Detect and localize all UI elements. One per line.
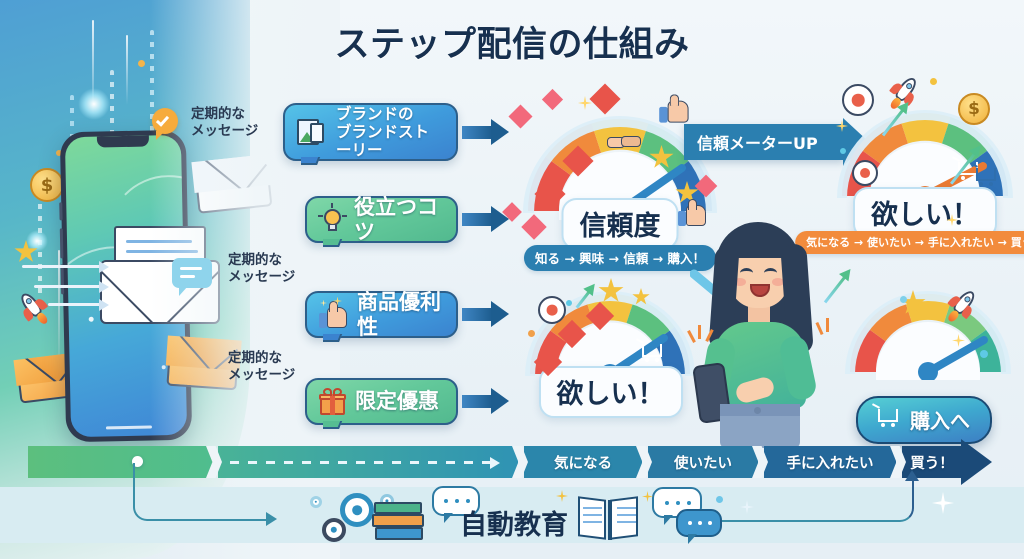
flow-line (34, 285, 106, 288)
target-icon (842, 84, 874, 116)
gauge-label: 信頼度 (562, 198, 679, 250)
infographic-canvas: $ (0, 0, 1024, 559)
message-bubble-product-benefit[interactable]: 商品優利性 (305, 291, 458, 338)
timeline-segment-interest[interactable]: 気になる (524, 446, 642, 478)
decor-dot (900, 296, 907, 303)
coin-icon: $ (30, 168, 64, 202)
flow-arrow (462, 308, 492, 321)
automation-label: 自動教育 (460, 503, 568, 542)
gear-icon (340, 493, 374, 527)
decor-dot (980, 350, 988, 358)
gauge-dial (838, 280, 1018, 380)
flow-arrow (462, 126, 492, 139)
brochure-icon (297, 119, 327, 145)
gift-icon (319, 389, 346, 415)
gauge-purchase (838, 280, 1018, 390)
cart-icon (976, 168, 1000, 188)
page-title: ステップ配信の仕組み (0, 16, 1024, 67)
banner-label: 信頼メーターUP (697, 130, 818, 154)
purchase-button-label: 購入へ (910, 405, 970, 434)
flow-line (48, 303, 106, 306)
message-bubble-brand-story[interactable]: ブランドの ブランドストーリー (283, 103, 458, 161)
cart-icon (642, 344, 666, 364)
flow-line (22, 265, 106, 268)
feedback-connector-left (133, 463, 271, 521)
decor-dot (840, 148, 846, 154)
chat-bubble-icon (676, 509, 722, 537)
gear-icon (322, 518, 346, 542)
bubble-label: 商品優利性 (357, 290, 444, 340)
bubble-label: ブランドの ブランドストーリー (336, 105, 444, 160)
periodic-message-label: 定期的な メッセージ (228, 350, 295, 385)
decor-glow (78, 88, 110, 120)
check-circle-icon (152, 108, 178, 134)
excitement-mark (826, 318, 829, 332)
decor-dot (930, 78, 937, 85)
gauge-sub-label: 知る → 興味 → 信頼 → 購入！ (524, 245, 716, 271)
message-bubble-tips[interactable]: 役立つコツ (305, 196, 458, 243)
gauge-sub-label: 気になる → 使いたい → 手に入れたい → 買う！ (795, 231, 1024, 254)
message-bubble-limited-offer[interactable]: 限定優惠 (305, 378, 458, 425)
bubble-label: 役立つコツ (354, 195, 444, 245)
target-icon (852, 160, 878, 186)
handshake-icon (607, 133, 641, 151)
decor-dot (566, 300, 572, 306)
smiling-woman-with-phone (700, 222, 820, 448)
coin-icon: $ (958, 93, 990, 125)
periodic-message-label: 定期的な メッセージ (228, 252, 295, 287)
message-bubble-icon (172, 258, 212, 288)
flow-arrow (462, 395, 492, 408)
open-book-icon (578, 498, 642, 542)
flow-arrow (462, 213, 492, 226)
shopping-cart-icon (878, 409, 902, 430)
lightbulb-icon (319, 206, 345, 234)
bubble-label: 限定優惠 (355, 389, 439, 414)
purchase-button[interactable]: 購入へ (856, 396, 992, 444)
timeline-segment-want-to-get[interactable]: 手に入れたい (764, 446, 896, 478)
timeline-segment-want-to-use[interactable]: 使いたい (648, 446, 758, 478)
thumbs-up-icon (319, 300, 348, 330)
periodic-message-label: 定期的な メッセージ (191, 106, 258, 141)
decor-dot (716, 496, 723, 503)
target-icon (538, 296, 566, 324)
connector-arrow-icon (266, 512, 277, 526)
feedback-connector-right (716, 478, 914, 522)
excitement-mark (698, 325, 701, 339)
decor-dot (528, 330, 535, 337)
trust-meter-up-banner: 信頼メーターUP (684, 124, 844, 160)
books-icon (372, 502, 424, 540)
thumbs-up-icon (659, 95, 693, 122)
gear-icon (310, 496, 322, 508)
